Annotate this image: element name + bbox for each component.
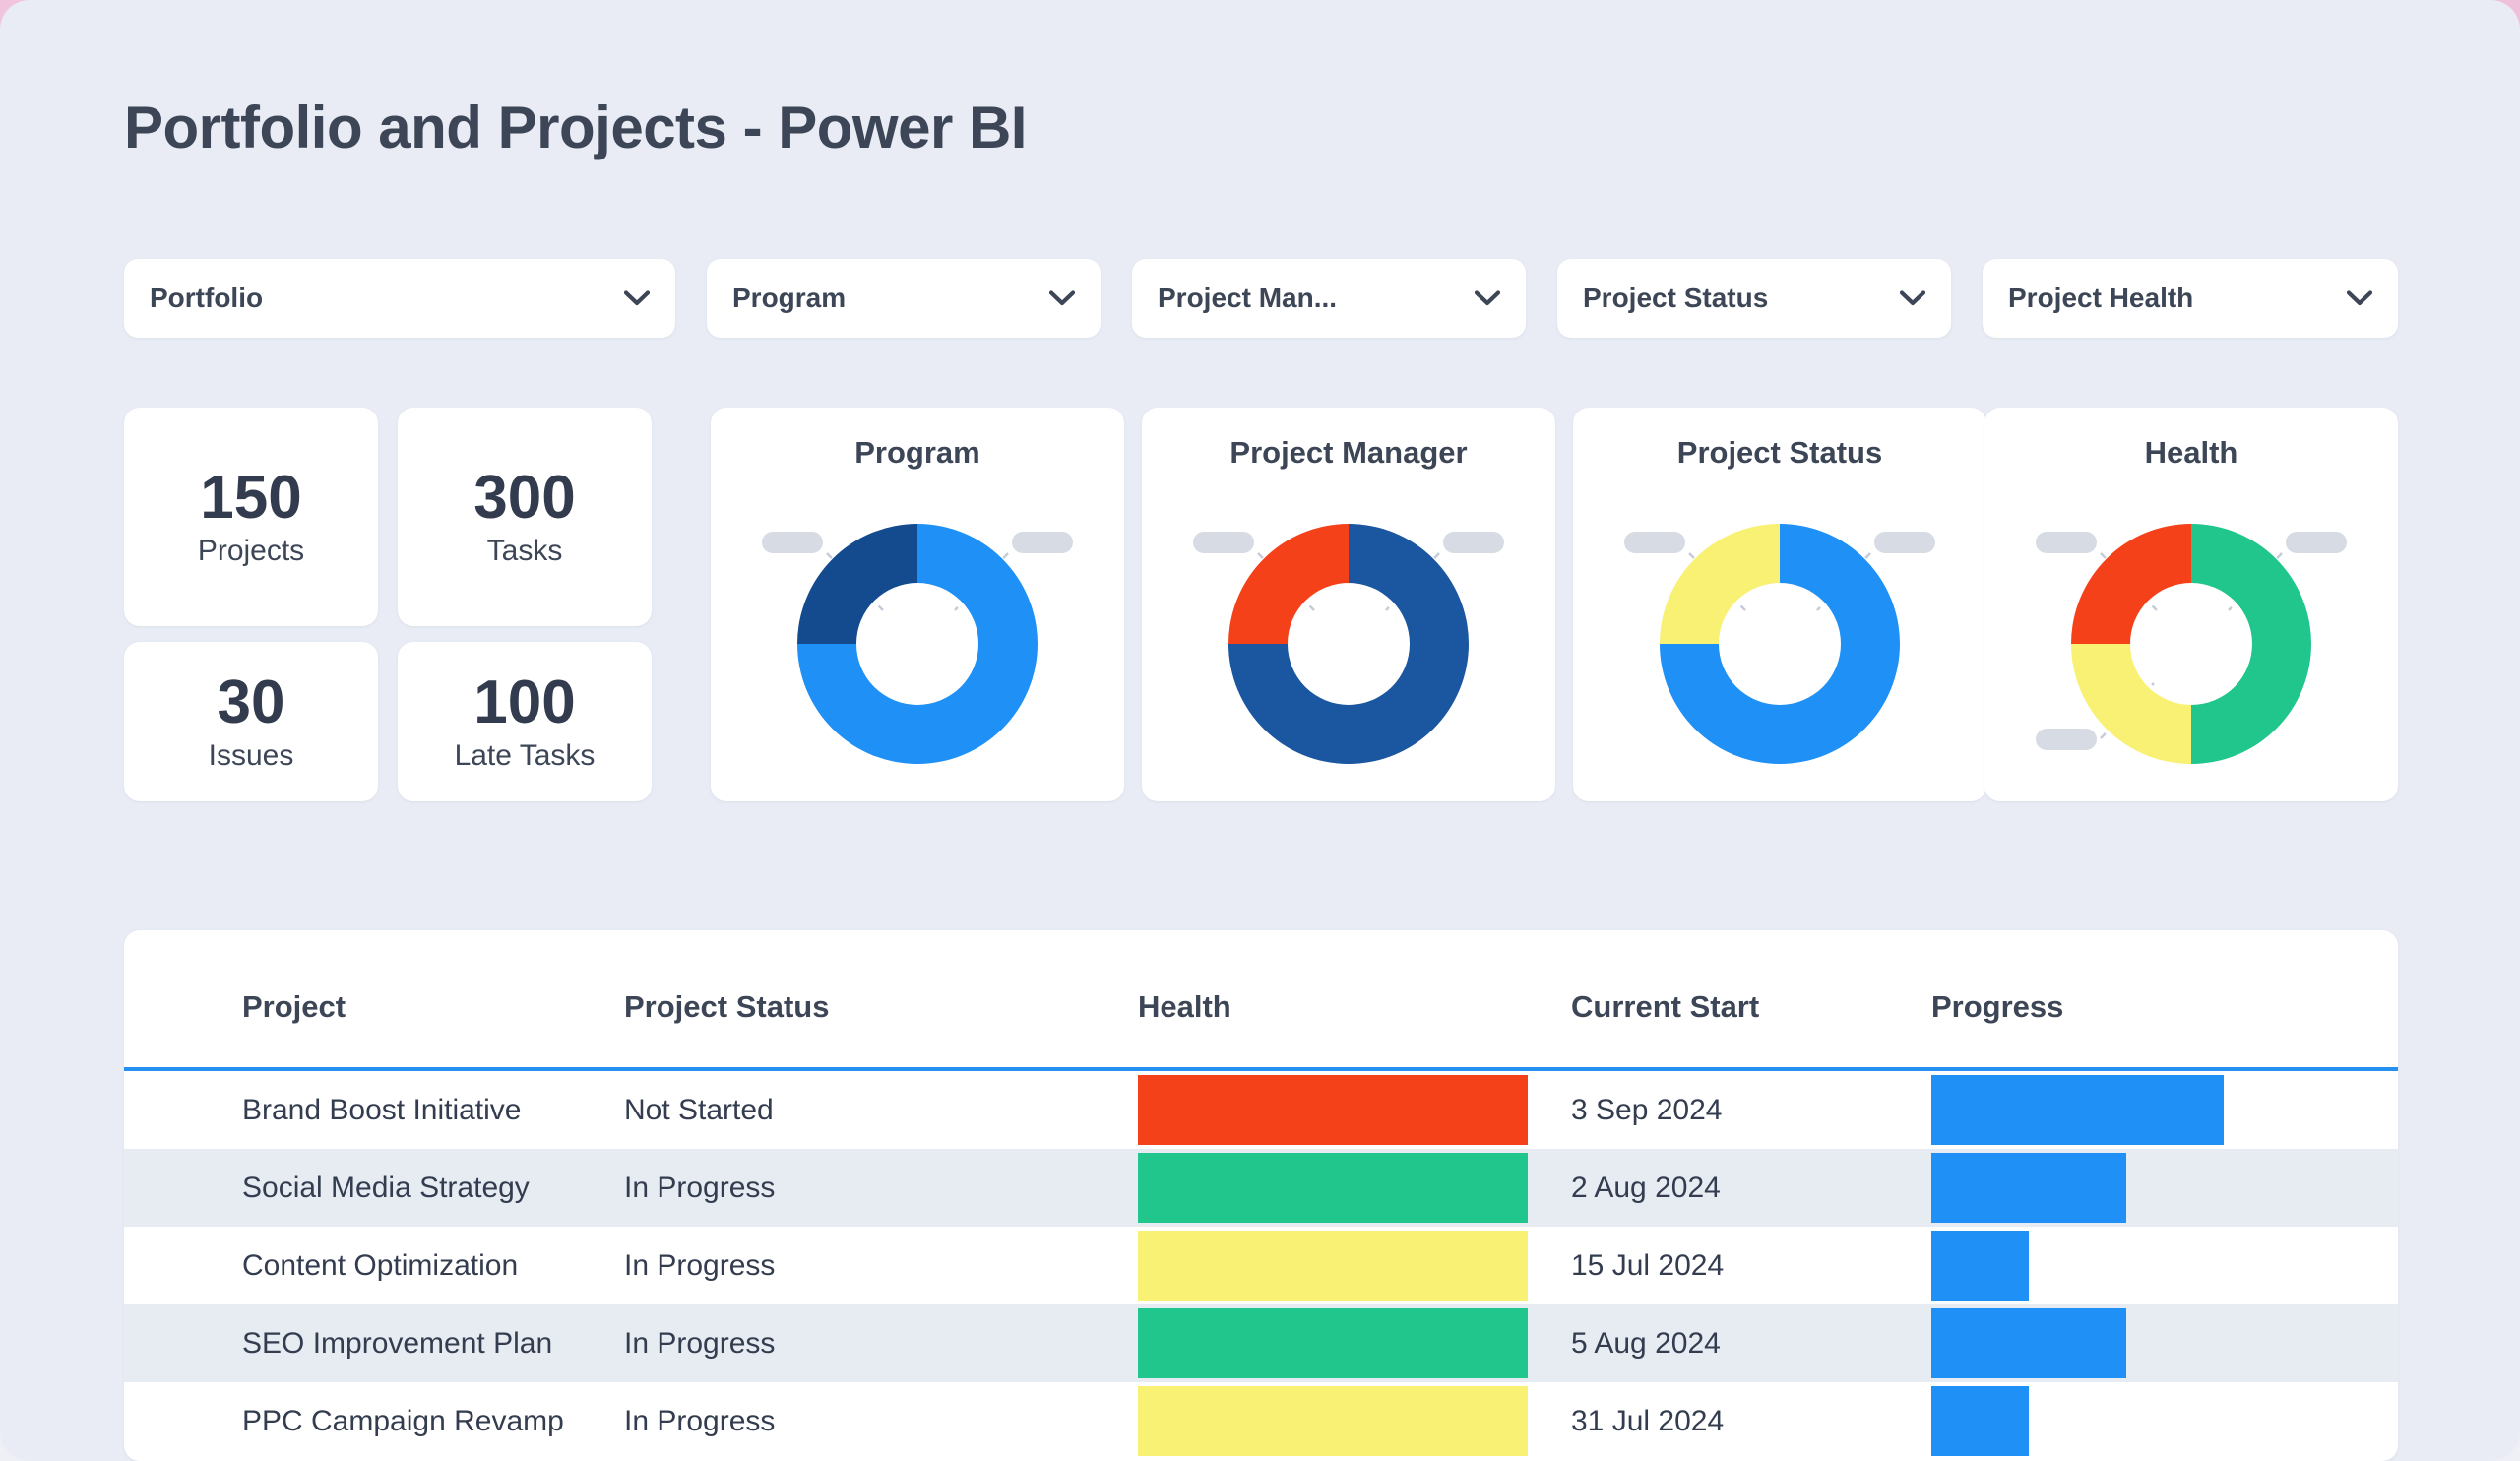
cell-project-status: Not Started [624, 1071, 774, 1149]
column-header-current-start[interactable]: Current Start [1571, 989, 1759, 1025]
filter-dropdown-project-health[interactable]: Project Health [1983, 259, 2398, 338]
filter-dropdown-portfolio[interactable]: Portfolio [124, 259, 675, 338]
donut-chart [1142, 494, 1555, 790]
filter-dropdown-project-status[interactable]: Project Status [1557, 259, 1951, 338]
column-header-health[interactable]: Health [1138, 989, 1231, 1025]
table-row[interactable]: Content OptimizationIn Progress15 Jul 20… [124, 1227, 2398, 1304]
progress-fill [1931, 1386, 2029, 1456]
table-header-row: ProgressCurrent StartHealthProject Statu… [124, 930, 2398, 1071]
cell-progress-bar [1931, 1075, 2256, 1145]
filter-label: Project Man... [1158, 283, 1337, 314]
kpi-card-issues[interactable]: 30Issues [124, 642, 378, 801]
donut-title: Project Manager [1142, 435, 1555, 471]
cell-current-start: 5 Aug 2024 [1571, 1304, 1721, 1382]
chevron-down-icon[interactable] [624, 290, 650, 306]
kpi-value: 100 [473, 670, 575, 734]
cell-project: Brand Boost Initiative [242, 1071, 522, 1149]
filter-dropdown-project-man[interactable]: Project Man... [1132, 259, 1526, 338]
donut-label-placeholder [2036, 729, 2097, 750]
progress-fill [1931, 1308, 2126, 1378]
donut-label-placeholder [1443, 532, 1504, 553]
filter-label: Project Health [2008, 283, 2193, 314]
cell-project-status: In Progress [624, 1149, 775, 1227]
cell-current-start: 15 Jul 2024 [1571, 1227, 1724, 1304]
donut-label-placeholder [762, 532, 823, 553]
column-header-project[interactable]: Project [242, 989, 346, 1025]
donut-label-placeholder [1193, 532, 1254, 553]
table-row[interactable]: Social Media StrategyIn Progress2 Aug 20… [124, 1149, 2398, 1227]
donut-card-health[interactable]: Health [1984, 408, 2398, 801]
cell-project: Content Optimization [242, 1227, 518, 1304]
cell-progress-bar [1931, 1231, 2256, 1301]
kpi-value: 150 [200, 466, 301, 530]
progress-fill [1931, 1231, 2029, 1301]
donut-title: Health [1984, 435, 2398, 471]
donut-card-project-manager[interactable]: Project Manager [1142, 408, 1555, 801]
projects-table: ProgressCurrent StartHealthProject Statu… [124, 930, 2398, 1461]
kpi-label: Tasks [487, 535, 563, 568]
cell-current-start: 3 Sep 2024 [1571, 1071, 1722, 1149]
cell-project: PPC Campaign Revamp [242, 1382, 564, 1460]
kpi-card-projects[interactable]: 150Projects [124, 408, 378, 626]
filter-label: Portfolio [150, 283, 263, 314]
chevron-down-icon[interactable] [1049, 290, 1075, 306]
cell-project-status: In Progress [624, 1227, 775, 1304]
donut-chart [1573, 494, 1986, 790]
kpi-label: Issues [209, 739, 294, 773]
chevron-down-icon[interactable] [1900, 290, 1925, 306]
donut-card-program[interactable]: Program [711, 408, 1124, 801]
cell-project-status: In Progress [624, 1304, 775, 1382]
kpi-label: Projects [198, 535, 304, 568]
donut-chart [1984, 494, 2398, 790]
table-body: Brand Boost InitiativeNot Started3 Sep 2… [124, 1071, 2398, 1460]
table-row[interactable]: SEO Improvement PlanIn Progress5 Aug 202… [124, 1304, 2398, 1382]
progress-fill [1931, 1153, 2126, 1223]
kpi-card-tasks[interactable]: 300Tasks [398, 408, 652, 626]
donut-label-placeholder [1012, 532, 1073, 553]
cell-health-swatch [1138, 1075, 1528, 1145]
dashboard-page: Portfolio and Projects - Power BI Portfo… [0, 0, 2520, 1461]
kpi-card-late-tasks[interactable]: 100Late Tasks [398, 642, 652, 801]
cell-health-swatch [1138, 1231, 1528, 1301]
cell-project: SEO Improvement Plan [242, 1304, 552, 1382]
column-header-project-status[interactable]: Project Status [624, 989, 829, 1025]
donut-label-placeholder [1624, 532, 1685, 553]
cell-current-start: 2 Aug 2024 [1571, 1149, 1721, 1227]
kpi-value: 30 [218, 670, 285, 734]
cell-current-start: 31 Jul 2024 [1571, 1382, 1724, 1460]
cell-health-swatch [1138, 1386, 1528, 1456]
cell-progress-bar [1931, 1386, 2256, 1456]
cell-health-swatch [1138, 1153, 1528, 1223]
filter-label: Project Status [1583, 283, 1768, 314]
donut-chart [711, 494, 1124, 790]
progress-fill [1931, 1075, 2224, 1145]
page-title: Portfolio and Projects - Power BI [124, 94, 1027, 161]
donut-title: Project Status [1573, 435, 1986, 471]
cell-progress-bar [1931, 1308, 2256, 1378]
kpi-value: 300 [473, 466, 575, 530]
cell-project-status: In Progress [624, 1382, 775, 1460]
donut-label-placeholder [2036, 532, 2097, 553]
kpi-label: Late Tasks [455, 739, 596, 773]
filter-dropdown-program[interactable]: Program [707, 259, 1101, 338]
donut-title: Program [711, 435, 1124, 471]
cell-progress-bar [1931, 1153, 2256, 1223]
filter-bar: PortfolioProgramProject Man...Project St… [124, 259, 2398, 338]
chevron-down-icon[interactable] [1475, 290, 1500, 306]
donut-card-project-status[interactable]: Project Status [1573, 408, 1986, 801]
donut-label-placeholder [1874, 532, 1935, 553]
table-row[interactable]: Brand Boost InitiativeNot Started3 Sep 2… [124, 1071, 2398, 1149]
donut-label-placeholder [2286, 532, 2347, 553]
filter-label: Program [732, 283, 846, 314]
cell-health-swatch [1138, 1308, 1528, 1378]
table-row[interactable]: PPC Campaign RevampIn Progress31 Jul 202… [124, 1382, 2398, 1460]
column-header-progress[interactable]: Progress [1931, 989, 2063, 1025]
chevron-down-icon[interactable] [2347, 290, 2372, 306]
cell-project: Social Media Strategy [242, 1149, 530, 1227]
